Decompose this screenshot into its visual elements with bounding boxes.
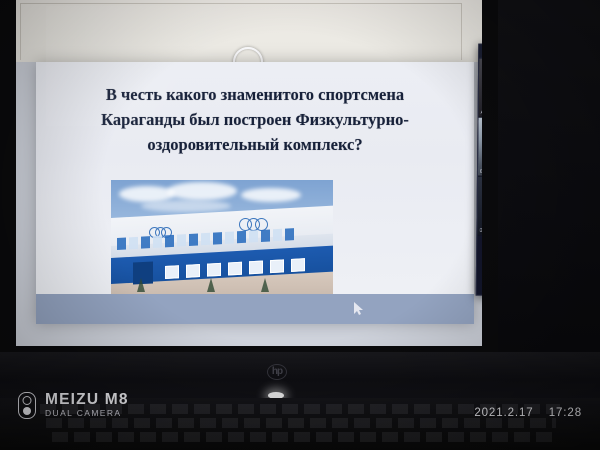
participant-name: Владимир Александр... [480,168,482,176]
timestamp-date: 2021.2.17 [474,407,533,419]
cloud-icon [241,188,301,202]
slide-title-line-3: оздоровительный комплекс? [58,132,452,157]
watermark-mode: DUAL CAMERA [45,408,129,419]
laptop-screen-bezel: В честь какого знаменитого спортсмена Ка… [0,0,498,358]
cloud-icon [167,182,237,200]
camera-watermark: MEIZU M8 DUAL CAMERA [18,392,129,419]
participant-name: Азат Байталиев [481,109,482,116]
cloud-icon [141,200,231,212]
slide-title: В честь какого знаменитого спортсмена Ка… [58,82,452,157]
phone-photo-of-laptop-screen: В честь какого знаменитого спортсмена Ка… [0,0,600,450]
slide-image-sports-complex [111,180,333,294]
watermark-brand: MEIZU M8 [45,392,129,408]
dual-camera-icon [18,392,36,419]
participant-tile[interactable] [477,236,482,297]
presentation-slide[interactable]: В честь какого знаменитого спортсмена Ка… [36,62,474,324]
video-panel-toolbar[interactable] [479,45,482,60]
video-call-panel[interactable]: Азат Байталиев Владимир Александр... [476,44,482,297]
timestamp-time: 17:28 [549,407,582,419]
participant-tile[interactable]: Азат Байталиев [479,59,482,119]
laptop-screen: В честь какого знаменитого спортсмена Ка… [16,0,482,346]
slide-title-line-2: Караганды был построен Физкультурно- [58,107,452,132]
participant-tile[interactable]: Владимир Александр... [478,118,482,178]
building-entrance [133,261,153,284]
rings-logo-icon [239,218,269,229]
participant-tile[interactable]: Эвальд Фаренгот "96" [477,177,482,237]
hp-logo: hp [267,364,287,380]
slide-bottom-strip [36,294,474,324]
slide-title-line-1: В честь какого знаменитого спортсмена [58,82,452,107]
photo-timestamp: 2021.2.17 17:28 [463,407,582,419]
participant-name: Эвальд Фаренгот "96" [479,227,482,235]
